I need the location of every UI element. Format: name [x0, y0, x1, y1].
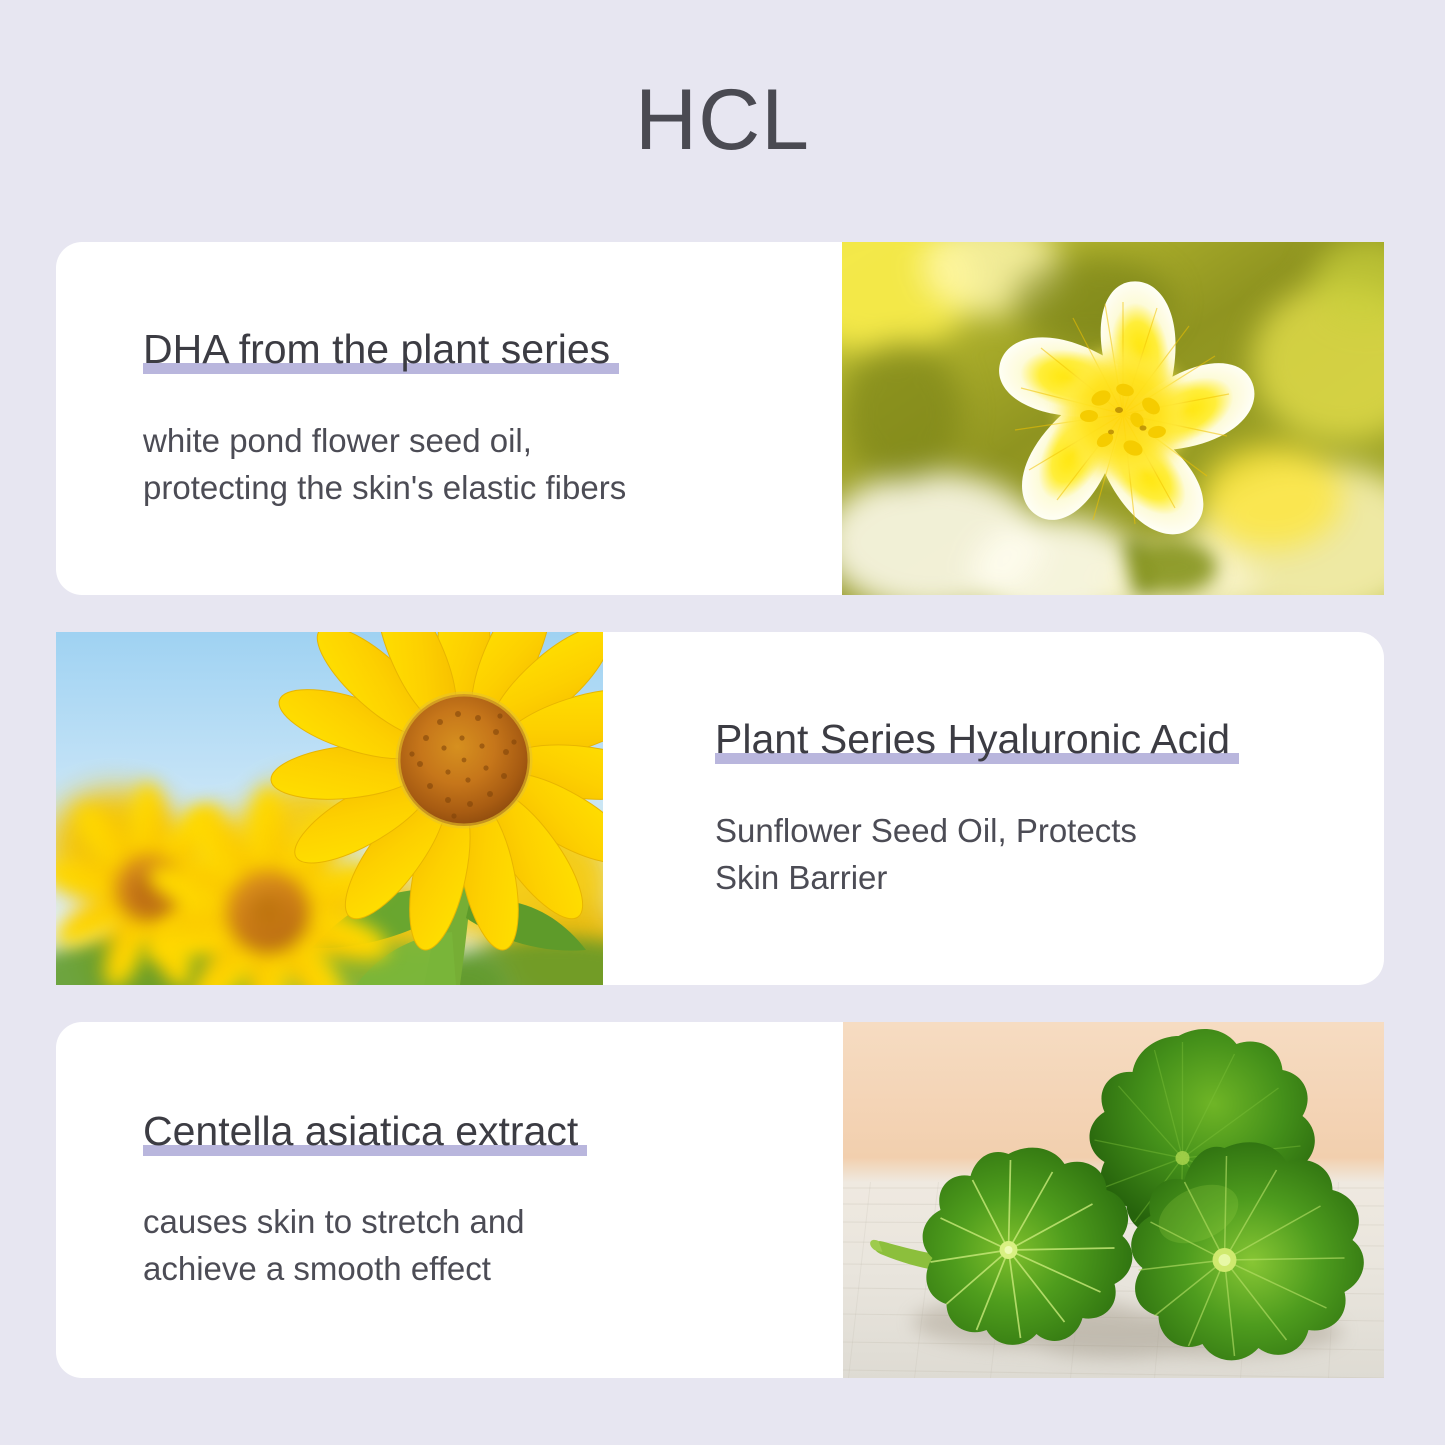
card-heading: Centella asiatica extract — [143, 1108, 587, 1158]
meadowfoam-flower-photo — [842, 242, 1384, 595]
card-dha-plant-series: DHA from the plant series white pond flo… — [56, 242, 1384, 595]
card-body: causes skin to stretch and achieve a smo… — [143, 1199, 843, 1293]
card-text-block: DHA from the plant series white pond flo… — [56, 242, 842, 595]
card-heading: Plant Series Hyaluronic Acid — [715, 716, 1239, 766]
centella-leaves-photo — [843, 1022, 1384, 1378]
card-text-block: Plant Series Hyaluronic Acid Sunflower S… — [603, 632, 1384, 985]
heading-wrap: Centella asiatica extract — [143, 1107, 843, 1155]
meadowfoam-flower-illustration — [842, 242, 1384, 595]
sunflower-field-photo — [56, 632, 603, 985]
page-title: HCL — [0, 0, 1445, 226]
heading-wrap: DHA from the plant series — [143, 325, 842, 373]
card-centella-asiatica-extract: Centella asiatica extract causes skin to… — [56, 1022, 1384, 1378]
centella-leaves-illustration — [843, 1022, 1384, 1378]
card-plant-series-hyaluronic-acid: Plant Series Hyaluronic Acid Sunflower S… — [56, 632, 1384, 985]
card-heading: DHA from the plant series — [143, 326, 619, 376]
card-text-block: Centella asiatica extract causes skin to… — [56, 1022, 843, 1378]
card-body: Sunflower Seed Oil, Protects Skin Barrie… — [715, 808, 1384, 902]
card-body: white pond flower seed oil, protecting t… — [143, 418, 842, 512]
heading-wrap: Plant Series Hyaluronic Acid — [715, 715, 1384, 763]
sunflower-field-illustration — [56, 632, 603, 985]
